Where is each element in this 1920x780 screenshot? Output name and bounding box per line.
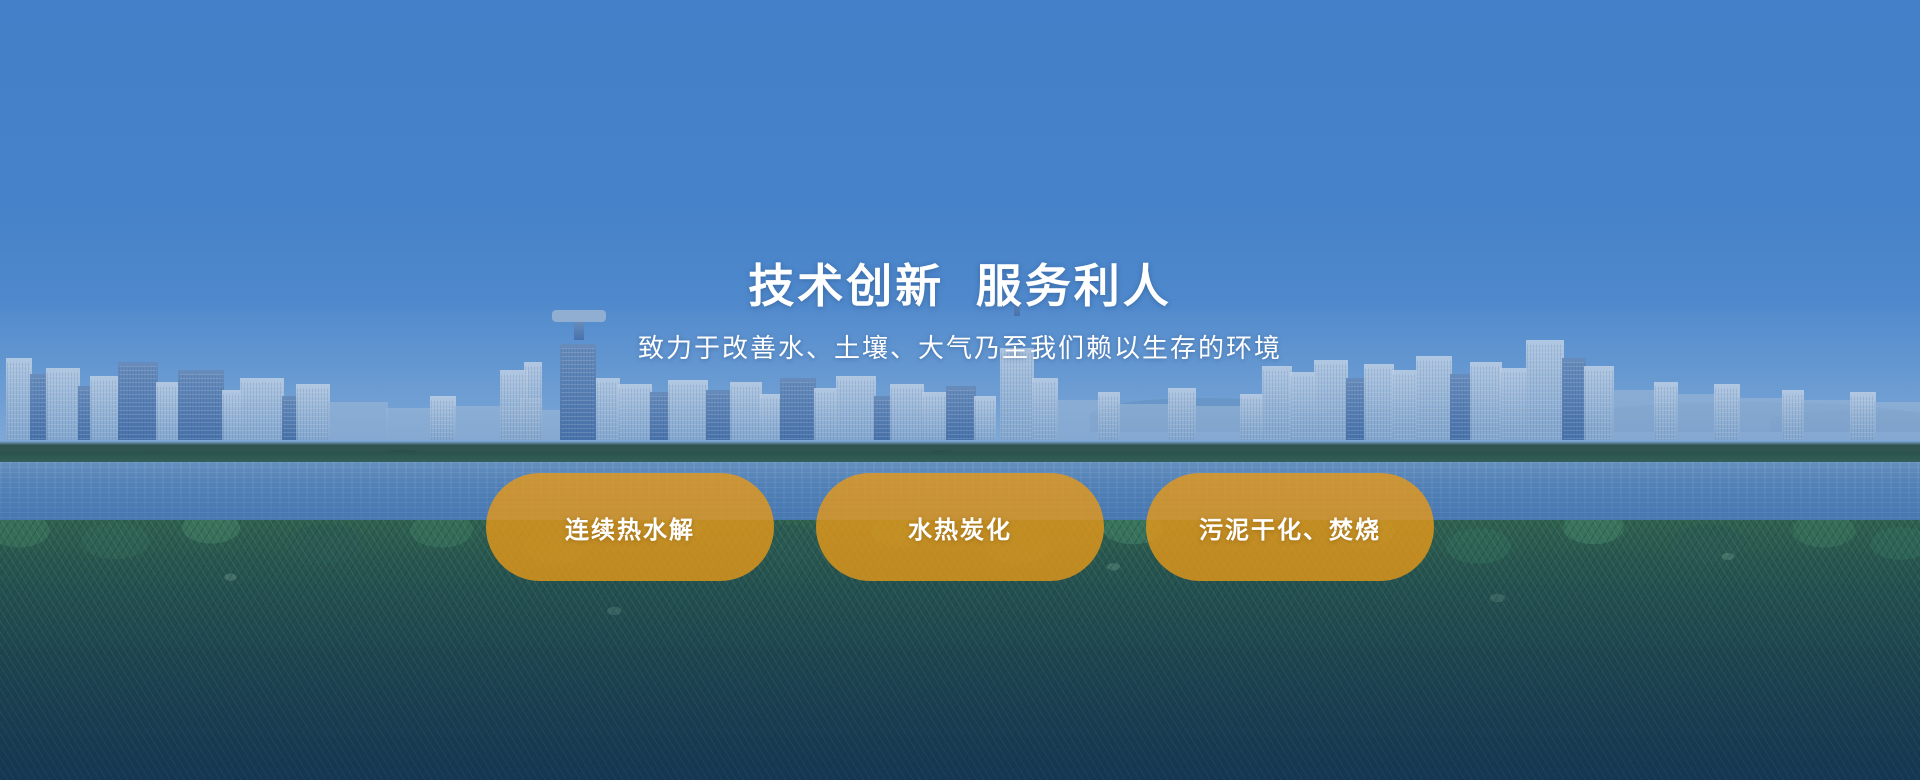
cta-button-label: 污泥干化、焚烧 xyxy=(1199,510,1381,545)
cta-button-label: 水热炭化 xyxy=(908,510,1012,545)
cta-button-sludge-drying-incineration[interactable]: 污泥干化、焚烧 xyxy=(1146,473,1434,581)
cta-button-row: 连续热水解 水热炭化 污泥干化、焚烧 xyxy=(0,473,1920,581)
hero-banner: 技术创新 服务利人 致力于改善水、土壤、大气乃至我们赖以生存的环境 连续热水解 … xyxy=(0,0,1920,780)
hero-copy: 技术创新 服务利人 致力于改善水、土壤、大气乃至我们赖以生存的环境 xyxy=(0,258,1920,366)
page-subtitle: 致力于改善水、土壤、大气乃至我们赖以生存的环境 xyxy=(0,330,1920,366)
cta-button-continuous-thermal-hydrolysis[interactable]: 连续热水解 xyxy=(486,473,774,581)
cta-button-hydrothermal-carbonization[interactable]: 水热炭化 xyxy=(816,473,1104,581)
page-title: 技术创新 服务利人 xyxy=(0,258,1920,316)
cta-button-label: 连续热水解 xyxy=(565,510,695,545)
